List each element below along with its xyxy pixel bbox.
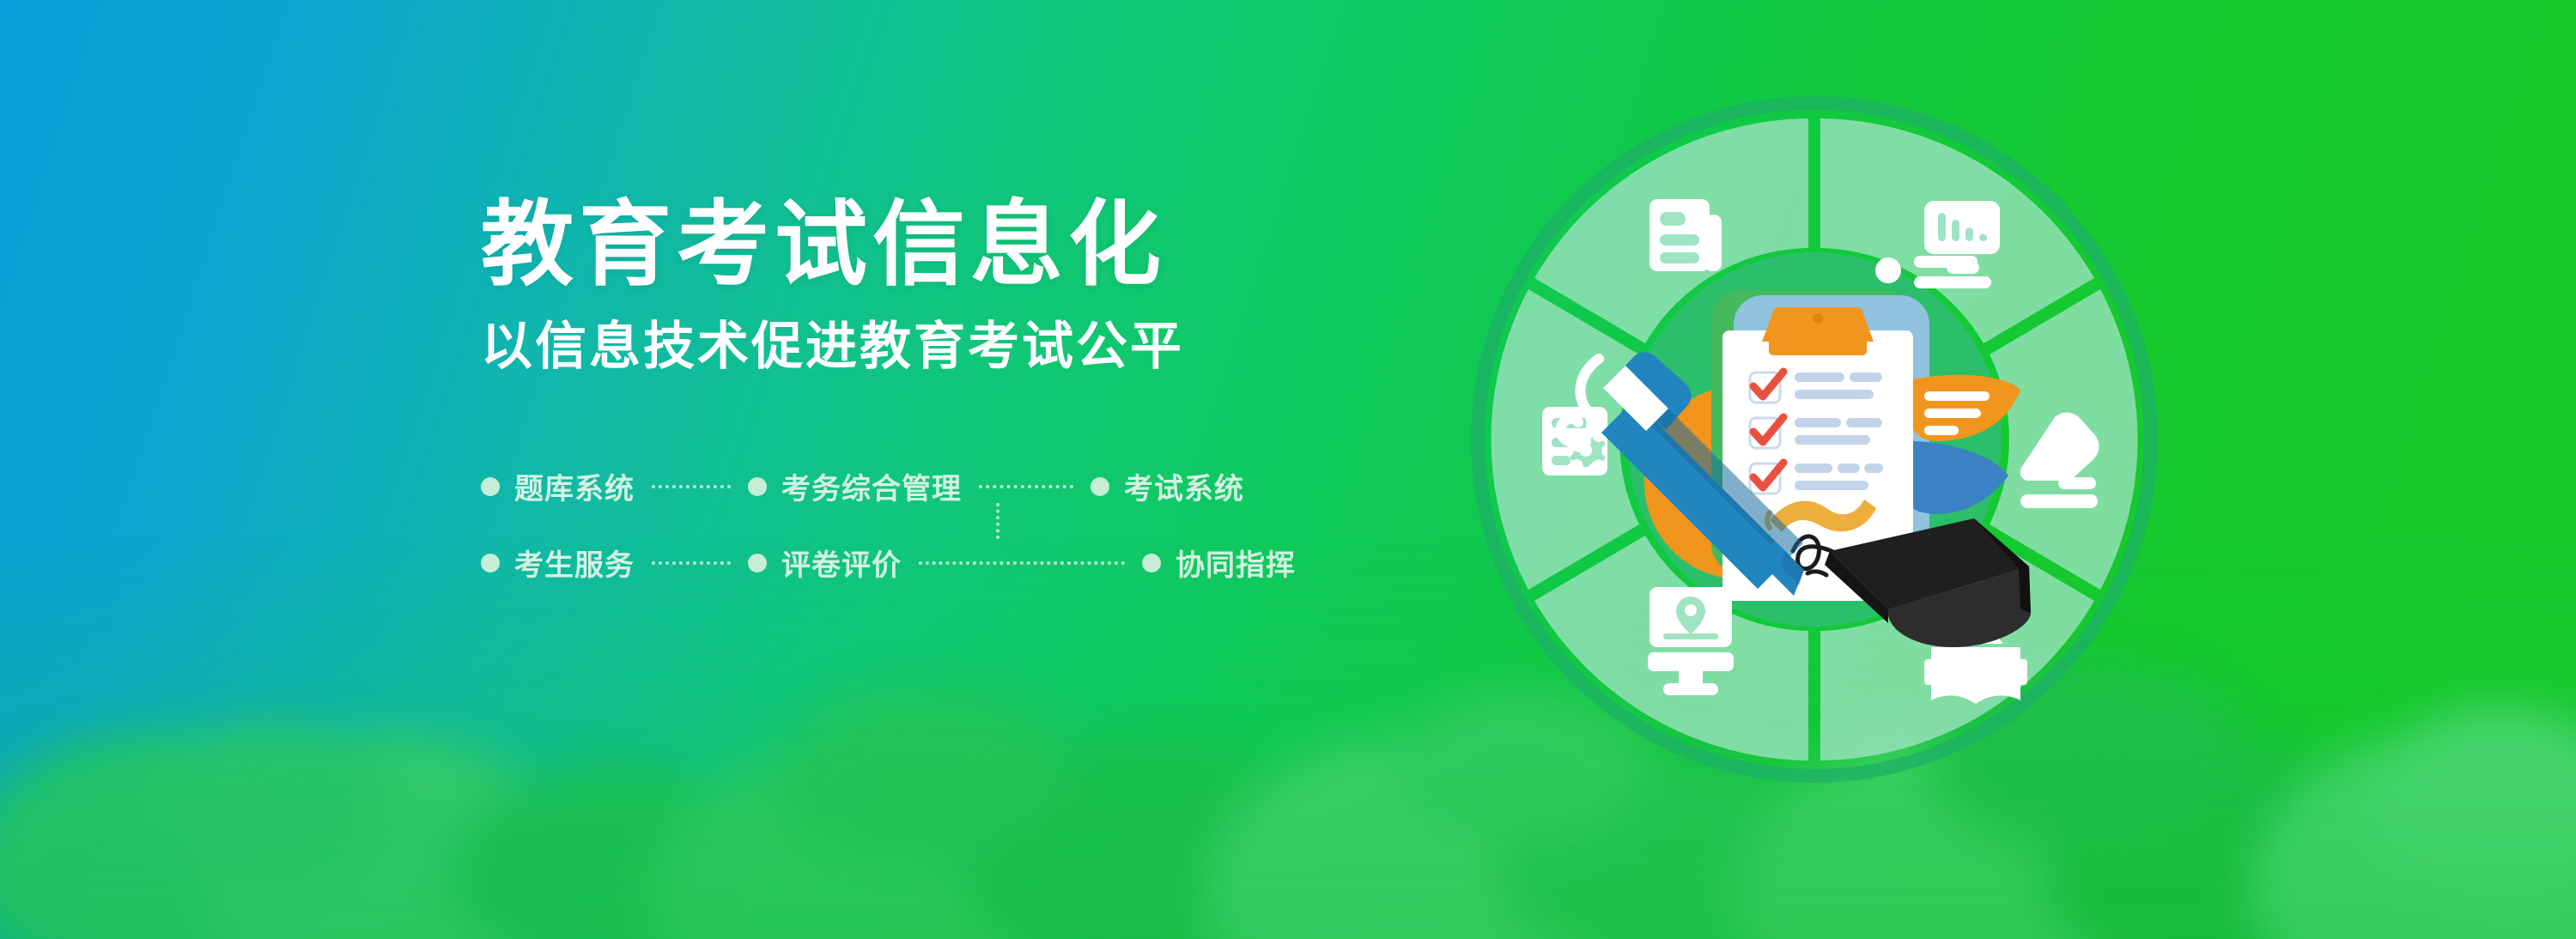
- feature-item-考务综合管理[interactable]: 考务综合管理: [748, 465, 962, 507]
- education-exam-banner: 教育考试信息化 以信息技术促进教育考试公平 题库系统 考务综合管理 考: [0, 0, 2576, 939]
- bullet-dot-icon: [748, 477, 767, 496]
- feature-label: 评卷评价: [781, 542, 902, 584]
- banner-copy: 教育考试信息化 以信息技术促进教育考试公平 题库系统 考务综合管理 考: [481, 193, 1340, 590]
- feature-row-1: 题库系统 考务综合管理 考试系统: [481, 460, 1340, 513]
- feature-label: 考生服务: [514, 542, 635, 584]
- feature-row-2: 考生服务 评卷评价 协同指挥: [481, 536, 1340, 590]
- feature-label: 协同指挥: [1176, 542, 1296, 584]
- page-subtitle: 以信息技术促进教育考试公平: [481, 316, 1340, 378]
- orange-leaf-shape: [1905, 375, 2020, 441]
- bullet-dot-icon: [748, 554, 767, 572]
- feature-item-协同指挥[interactable]: 协同指挥: [1142, 542, 1296, 584]
- feature-connector: [652, 561, 731, 565]
- bullet-dot-icon: [1091, 477, 1109, 496]
- feature-connector: [652, 485, 731, 488]
- bullet-dot-icon: [481, 477, 500, 496]
- feature-list: 题库系统 考务综合管理 考试系统 考生服务: [481, 460, 1340, 590]
- exam-system-wheel-graphic: [1428, 53, 2201, 826]
- feature-label: 考务综合管理: [781, 465, 962, 507]
- feature-connector: [979, 485, 1073, 488]
- feature-label: 题库系统: [514, 465, 635, 507]
- feature-item-题库系统[interactable]: 题库系统: [481, 465, 635, 507]
- feature-connector: [919, 561, 1125, 565]
- feature-item-考试系统[interactable]: 考试系统: [1091, 465, 1244, 507]
- feature-item-评卷评价[interactable]: 评卷评价: [748, 542, 902, 584]
- bullet-dot-icon: [1142, 554, 1161, 572]
- page-title: 教育考试信息化: [481, 193, 1340, 297]
- feature-label: 考试系统: [1124, 465, 1244, 507]
- bullet-dot-icon: [481, 554, 500, 572]
- feature-vertical-connector: [996, 503, 999, 539]
- feature-item-考生服务[interactable]: 考生服务: [481, 542, 635, 584]
